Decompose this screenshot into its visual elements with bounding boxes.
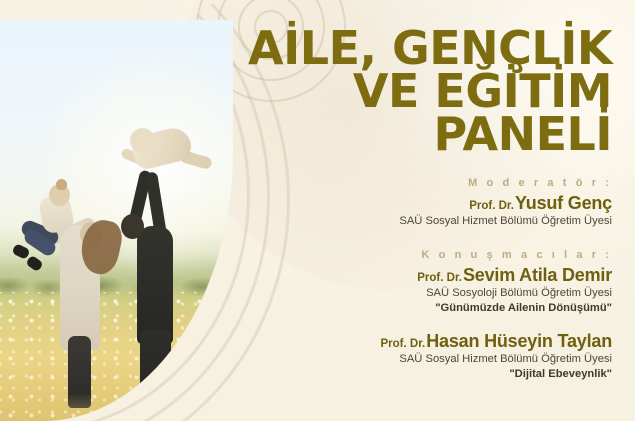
moderator-name-row: Prof. Dr.Yusuf Genç [212,193,612,214]
held-child-hair [56,179,67,190]
moderator-label: M o d e r a t ö r : [212,177,612,189]
father-legs [140,330,171,412]
spacer [212,231,612,249]
speaker-entry-2: Prof. Dr.Hasan Hüseyin Taylan SAÜ Sosyal… [212,331,612,382]
poster-title: AİLE, GENÇLİK VE EĞİTİM PANELİ [212,0,612,155]
moderator-affiliation: SAÜ Sosyal Hizmet Bölümü Öğretim Üyesi [212,214,612,229]
title-line-3: PANELİ [212,113,612,156]
speaker-1-name: Sevim Atila Demir [463,265,612,285]
speaker-2-affiliation: SAÜ Sosyal Hizmet Bölümü Öğretim Üyesi [212,352,612,367]
warm-light-overlay [0,271,233,421]
poster-text-column: AİLE, GENÇLİK VE EĞİTİM PANELİ M o d e r… [212,0,612,421]
father-head [121,214,144,239]
speaker-2-name-row: Prof. Dr.Hasan Hüseyin Taylan [212,331,612,352]
family-photo [0,20,233,421]
speaker-2-topic: "Dijital Ebeveynlik" [212,367,612,382]
speaker-1-name-row: Prof. Dr.Sevim Atila Demir [212,265,612,286]
speaker-entry-1: Prof. Dr.Sevim Atila Demir SAÜ Sosyoloji… [212,265,612,316]
event-poster: AİLE, GENÇLİK VE EĞİTİM PANELİ M o d e r… [0,0,635,421]
speakers-label: K o n u ş m a c ı l a r : [212,249,612,261]
moderator-title-prefix: Prof. Dr. [469,200,514,212]
moderator-name: Yusuf Genç [515,193,612,213]
speaker-1-topic: "Günümüzde Ailenin Dönüşümü" [212,301,612,316]
spacer [212,318,612,331]
speaker-1-affiliation: SAÜ Sosyoloji Bölümü Öğretim Üyesi [212,286,612,301]
flying-baby-head [130,128,155,153]
credits-block: M o d e r a t ö r : Prof. Dr.Yusuf Genç … [212,177,612,382]
mother-legs [68,336,91,408]
speaker-2-title-prefix: Prof. Dr. [381,338,426,350]
speaker-2-name: Hasan Hüseyin Taylan [426,331,612,351]
moderator-entry: Prof. Dr.Yusuf Genç SAÜ Sosyal Hizmet Bö… [212,193,612,229]
father-body [137,226,173,344]
speaker-1-title-prefix: Prof. Dr. [417,272,462,284]
